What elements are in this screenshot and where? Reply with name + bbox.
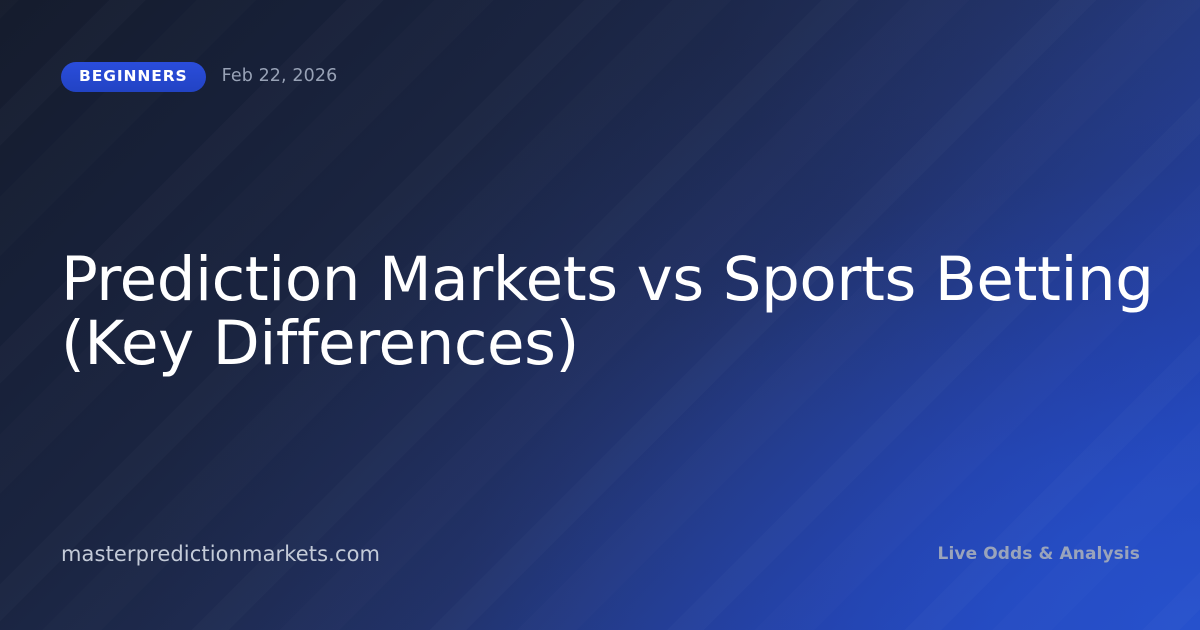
page-title-line-2: (Key Differences)	[61, 312, 1071, 376]
meta-row: BEGINNERS Feb 22, 2026	[61, 62, 337, 92]
social-share-card: BEGINNERS Feb 22, 2026 Prediction Market…	[0, 0, 1200, 630]
publish-date: Feb 22, 2026	[222, 68, 338, 86]
card-footer: masterpredictionmarkets.com Live Odds & …	[61, 542, 1140, 567]
category-badge[interactable]: BEGINNERS	[61, 62, 206, 92]
site-tagline: Live Odds & Analysis	[938, 544, 1140, 564]
site-domain[interactable]: masterpredictionmarkets.com	[61, 542, 380, 567]
page-title: Prediction Markets vs Sports Betting (Ke…	[61, 248, 1071, 376]
page-title-line-1: Prediction Markets vs Sports Betting	[61, 248, 1071, 312]
card-content: BEGINNERS Feb 22, 2026 Prediction Market…	[0, 0, 1200, 630]
